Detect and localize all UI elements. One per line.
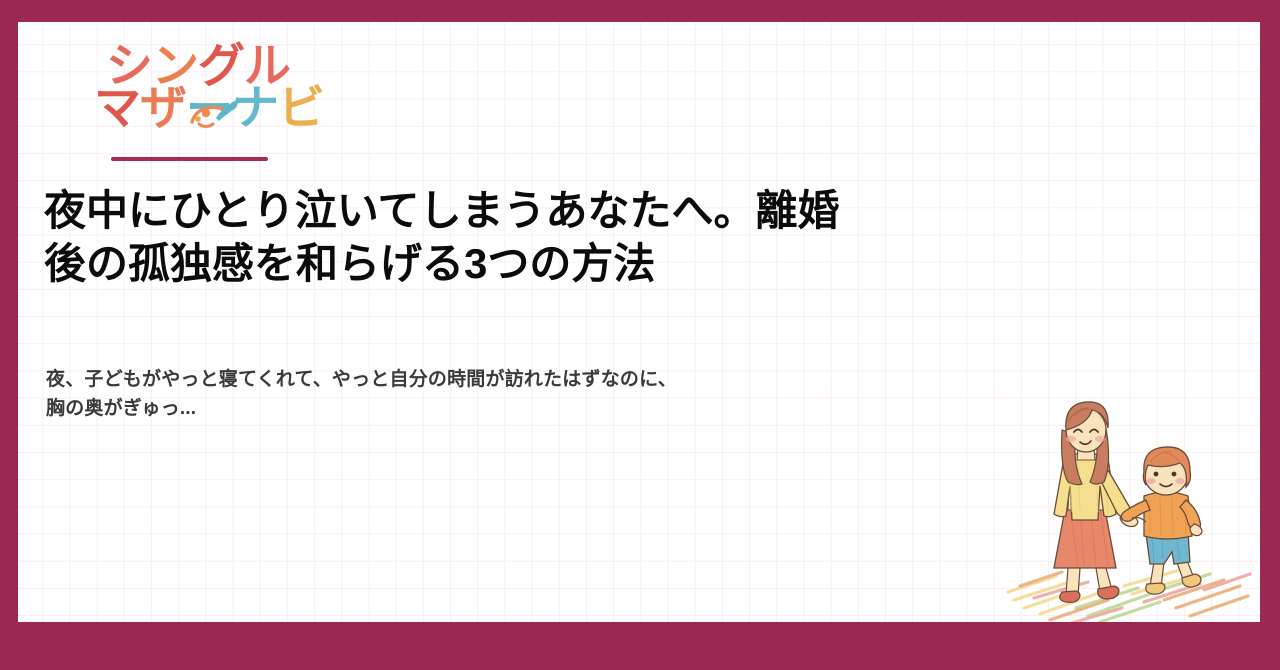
- grid-paper-background: シングル マザーナビ 夜中にひとり泣いてしまうあなたへ。離婚後の孤独感を和らげる…: [18, 22, 1260, 622]
- logo-underline: [111, 157, 268, 161]
- logo-char: ー: [186, 86, 232, 131]
- logo-char: ナ: [232, 86, 278, 131]
- logo-line-2: マザーナビ: [94, 86, 324, 131]
- site-logo[interactable]: シングル マザーナビ: [94, 44, 304, 164]
- article-title: 夜中にひとり泣いてしまうあなたへ。離婚後の孤独感を和らげる3つの方法: [44, 185, 874, 290]
- mother-and-child-illustration: [1004, 386, 1254, 622]
- logo-char: ビ: [278, 86, 324, 131]
- logo-char: ザ: [140, 86, 186, 131]
- mother-figure: [1054, 402, 1138, 603]
- article-card: シングル マザーナビ 夜中にひとり泣いてしまうあなたへ。離婚後の孤独感を和らげる…: [0, 0, 1280, 670]
- logo-char: マ: [94, 86, 140, 131]
- article-excerpt: 夜、子どもがやっと寝てくれて、やっと自分の時間が訪れたはずなのに、胸の奥がぎゅっ…: [46, 366, 686, 423]
